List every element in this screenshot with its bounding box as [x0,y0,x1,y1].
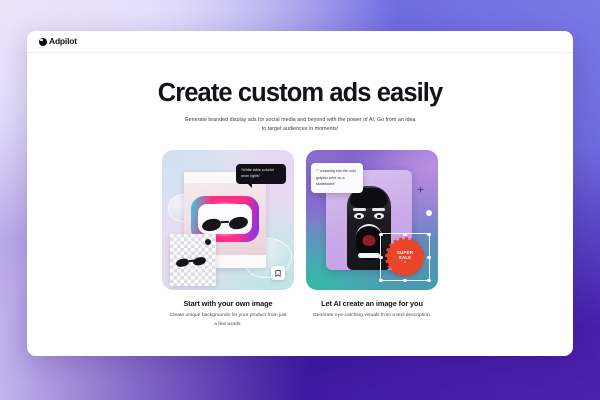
app-window: Adpilot Create custom ads easily Generat… [27,31,573,356]
prompt-speech-bubble: “White table colorful neon lights” [236,164,286,184]
circle-dot-logo-icon [39,38,47,46]
super-sale-badge[interactable]: SUPER SALE ★ [387,239,423,275]
face-eye-right [374,213,384,219]
selection-frame[interactable]: SUPER SALE ★ [380,233,430,281]
gradient-backdrop: Adpilot Create custom ads easily Generat… [0,0,600,400]
card-own-image-description: Create unique backgrounds for your produ… [168,312,288,329]
card-own-image-title: Start with your own image [162,299,294,308]
sunglasses-cutout-icon [176,257,207,269]
card-own-image[interactable]: “White table colorful neon lights” Start… [162,150,294,329]
cutout-layer-thumbnail[interactable] [170,234,216,286]
face-eye-left [354,213,364,219]
ai-prompt-card: “Screaming into the void graphic print o… [311,163,363,193]
super-sale-subtext: ★ [404,261,406,264]
card-own-image-thumbnail[interactable]: “White table colorful neon lights” [162,150,294,290]
ai-prompt-text: “Screaming into the void graphic print o… [316,168,358,187]
card-ai-image-description: Generate eye-catching visuals from a tex… [312,312,432,320]
window-titlebar: Adpilot [27,31,573,53]
resize-handle-top-center[interactable] [403,233,406,236]
face-tongue [363,235,376,246]
page-subtitle: Generate branded display ads for social … [182,116,418,134]
resize-handle-top-right[interactable] [427,233,430,236]
prompt-speech-text: “White table colorful neon lights” [241,168,281,180]
resize-handle-left-center[interactable] [379,256,382,259]
face-teeth [358,253,380,258]
layer-badge-icon [205,239,211,245]
option-cards: “White table colorful neon lights” Start… [27,150,573,329]
selection-corner-indicator [426,210,432,216]
resize-handle-bottom-center[interactable] [403,279,406,282]
resize-handle-right-center[interactable] [427,256,430,259]
plus-icon [417,186,424,193]
brand-logo[interactable]: Adpilot [39,37,77,46]
card-ai-image[interactable]: “Screaming into the void graphic print o… [306,150,438,329]
super-sale-line-2: SALE [399,255,412,260]
resize-handle-top-left[interactable] [379,233,382,236]
page-content: Create custom ads easily Generate brande… [27,53,573,329]
resize-handle-bottom-left[interactable] [379,279,382,282]
add-element-button[interactable] [415,184,426,195]
face-mouth-open [356,224,382,260]
face-brow-left [353,208,366,211]
brand-name: Adpilot [49,37,77,46]
card-ai-image-thumbnail[interactable]: “Screaming into the void graphic print o… [306,150,438,290]
face-brow-right [372,208,385,211]
page-title: Create custom ads easily [27,79,573,107]
bookmark-icon [275,270,281,277]
save-button[interactable] [271,266,285,280]
resize-handle-bottom-right[interactable] [427,279,430,282]
card-ai-image-title: Let AI create an image for you [306,299,438,308]
